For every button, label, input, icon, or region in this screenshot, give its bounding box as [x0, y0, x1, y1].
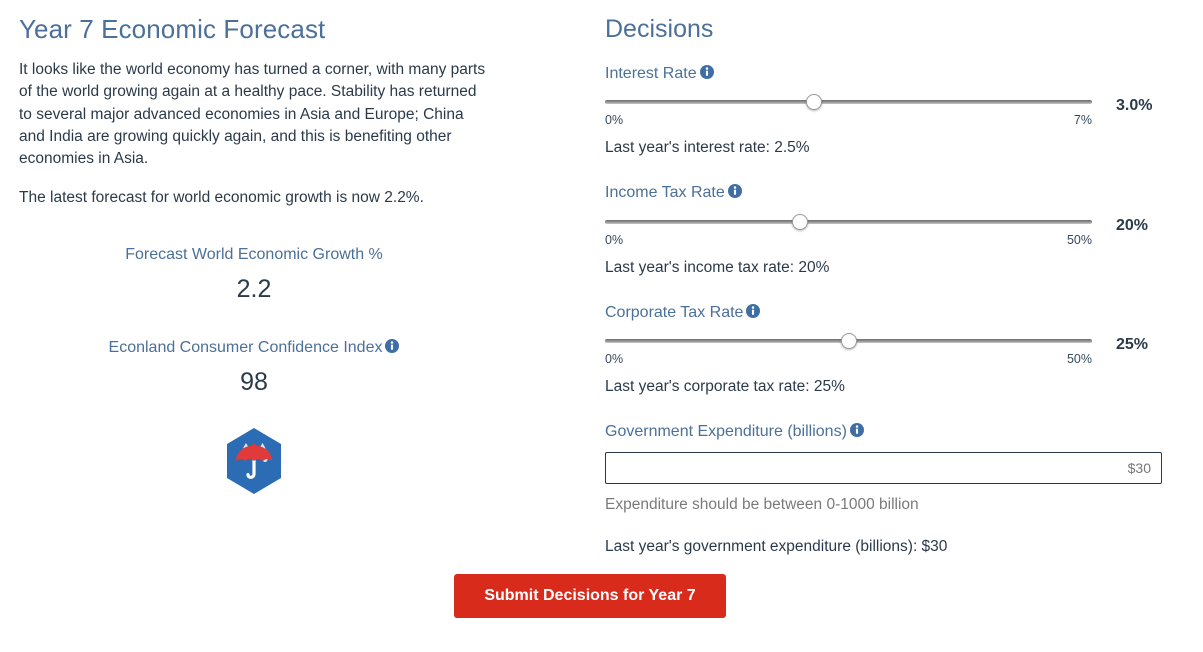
slider-min-label: 0% — [605, 113, 623, 127]
slider-row: 0% 50% 25% — [605, 333, 1162, 366]
decision-label-text: Interest Rate — [605, 65, 697, 82]
slider-min-label: 0% — [605, 352, 623, 366]
decision-label: Interest Rate — [605, 64, 1162, 83]
decision-income-tax-rate: Income Tax Rate 0% 50% 20% Last year's i… — [605, 183, 1162, 277]
submit-area: Submit Decisions for Year 7 — [0, 574, 1180, 618]
decision-label: Corporate Tax Rate — [605, 303, 1162, 322]
submit-decisions-button[interactable]: Submit Decisions for Year 7 — [454, 574, 725, 618]
decision-label-text: Income Tax Rate — [605, 184, 725, 201]
slider-handle[interactable] — [806, 94, 822, 110]
stat-consumer-confidence: Econland Consumer Confidence Index 98 — [19, 338, 489, 397]
stat-label-text: Forecast World Economic Growth % — [125, 246, 383, 263]
slider-value: 3.0% — [1116, 94, 1162, 115]
last-year-note: Last year's government expenditure (bill… — [605, 537, 1162, 557]
page-title: Year 7 Economic Forecast — [19, 14, 489, 45]
interest-rate-slider[interactable] — [605, 94, 1092, 110]
stat-label: Forecast World Economic Growth % — [19, 245, 489, 266]
decision-label-text: Government Expenditure (billions) — [605, 423, 847, 440]
slider-row: 0% 50% 20% — [605, 214, 1162, 247]
slider-range-labels: 0% 50% — [605, 233, 1092, 247]
slider-area: 0% 7% — [605, 94, 1092, 127]
decision-label-text: Corporate Tax Rate — [605, 304, 743, 321]
income-tax-rate-slider[interactable] — [605, 214, 1092, 230]
stat-forecast-growth: Forecast World Economic Growth % 2.2 — [19, 245, 489, 304]
last-year-note: Last year's corporate tax rate: 25% — [605, 377, 1162, 397]
slider-area: 0% 50% — [605, 333, 1092, 366]
decision-label: Government Expenditure (billions) — [605, 422, 1162, 441]
slider-range-labels: 0% 7% — [605, 113, 1092, 127]
info-icon[interactable] — [728, 184, 742, 198]
slider-track[interactable] — [605, 100, 1092, 104]
slider-max-label: 7% — [1074, 113, 1092, 127]
last-year-note: Last year's income tax rate: 20% — [605, 258, 1162, 278]
decision-label: Income Tax Rate — [605, 183, 1162, 202]
stat-label: Econland Consumer Confidence Index — [19, 338, 489, 359]
corporate-tax-rate-slider[interactable] — [605, 333, 1092, 349]
slider-handle[interactable] — [841, 333, 857, 349]
decision-government-expenditure: Government Expenditure (billions) Expend… — [605, 422, 1162, 557]
stat-value: 2.2 — [19, 274, 489, 304]
slider-handle[interactable] — [792, 214, 808, 230]
info-icon[interactable] — [746, 304, 760, 318]
info-icon[interactable] — [850, 423, 864, 437]
slider-range-labels: 0% 50% — [605, 352, 1092, 366]
decision-interest-rate: Interest Rate 0% 7% 3.0% Last year's int… — [605, 64, 1162, 158]
info-icon[interactable] — [700, 65, 714, 79]
logo — [19, 427, 489, 500]
forecast-decisions-page: Year 7 Economic Forecast It looks like t… — [0, 0, 1203, 652]
slider-value: 25% — [1116, 333, 1162, 354]
decisions-title: Decisions — [605, 14, 1162, 44]
info-icon[interactable] — [385, 339, 399, 353]
government-expenditure-input[interactable] — [605, 452, 1162, 484]
last-year-note: Last year's interest rate: 2.5% — [605, 138, 1162, 158]
stat-value: 98 — [19, 367, 489, 397]
slider-row: 0% 7% 3.0% — [605, 94, 1162, 127]
forecast-paragraph-2: The latest forecast for world economic g… — [19, 187, 489, 209]
slider-min-label: 0% — [605, 233, 623, 247]
slider-max-label: 50% — [1067, 233, 1092, 247]
slider-value: 20% — [1116, 214, 1162, 235]
umbrella-rain-hexagon-logo — [223, 427, 285, 495]
forecast-panel: Year 7 Economic Forecast It looks like t… — [19, 14, 489, 500]
expenditure-help-text: Expenditure should be between 0-1000 bil… — [605, 495, 1162, 515]
slider-max-label: 50% — [1067, 352, 1092, 366]
slider-area: 0% 50% — [605, 214, 1092, 247]
slider-track[interactable] — [605, 220, 1092, 224]
forecast-paragraph-1: It looks like the world economy has turn… — [19, 59, 489, 170]
decisions-panel: Decisions Interest Rate 0% 7% 3.0% Last … — [605, 14, 1162, 557]
decision-corporate-tax-rate: Corporate Tax Rate 0% 50% 25% Last year'… — [605, 303, 1162, 397]
stat-label-text: Econland Consumer Confidence Index — [109, 339, 383, 356]
